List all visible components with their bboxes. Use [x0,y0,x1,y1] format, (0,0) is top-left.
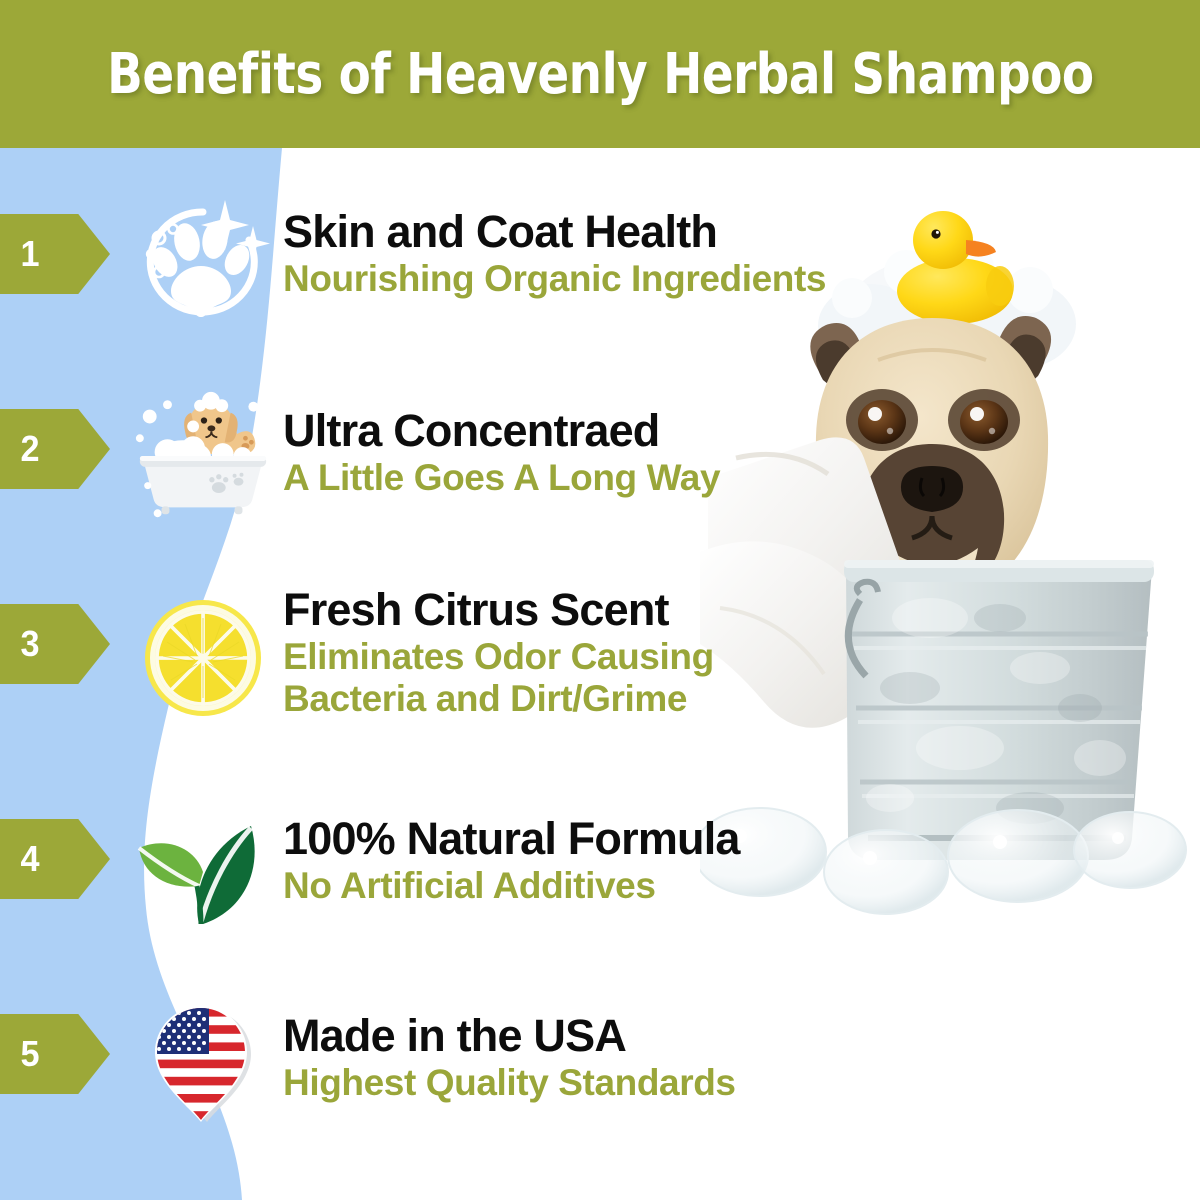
benefit-icon-3 [128,590,278,725]
benefit-row-3: 3 [0,576,1200,771]
number-badge-2: 2 [0,409,110,489]
benefit-row-2: 2 [0,381,1200,576]
benefit-subtitle-line1: No Artificial Additives [283,865,656,906]
benefit-title: 100% Natural Formula [283,813,983,865]
benefit-subtitle-line1: Eliminates Odor Causing [283,636,983,678]
lemon-slice-icon [141,598,265,718]
benefit-text-3: Fresh Citrus Scent Eliminates Odor Causi… [283,584,983,720]
benefit-subtitle: Eliminates Odor Causing Bacteria and Dir… [283,636,983,720]
benefit-subtitle: No Artificial Additives [283,865,983,907]
benefit-number: 2 [0,409,70,489]
benefit-number: 5 [0,1014,70,1094]
benefit-list: 1 [0,148,1200,1200]
benefit-subtitle-line1: A Little Goes A Long Way [283,457,720,498]
benefit-text-4: 100% Natural Formula No Artificial Addit… [283,813,983,907]
benefit-icon-4 [128,803,278,938]
benefit-row-4: 4 100% Natural Formula No Artificial Ad [0,791,1200,986]
number-badge-1: 1 [0,214,110,294]
page-title: Benefits of Heavenly Herbal Shampoo [107,42,1094,107]
number-badge-4: 4 [0,819,110,899]
benefit-subtitle: A Little Goes A Long Way [283,457,983,499]
benefit-row-5: 5 [0,986,1200,1181]
benefit-subtitle: Nourishing Organic Ingredients [283,258,983,300]
infographic-page: Benefits of Heavenly Herbal Shampoo [0,0,1200,1200]
benefit-title: Skin and Coat Health [283,206,983,258]
usa-flag-map-pin-icon [147,1000,259,1128]
header-band: Benefits of Heavenly Herbal Shampoo [0,0,1200,148]
benefit-text-2: Ultra Concentraed A Little Goes A Long W… [283,405,983,499]
green-leaves-icon [133,806,273,936]
number-badge-3: 3 [0,604,110,684]
benefit-subtitle-line1: Highest Quality Standards [283,1062,736,1103]
sparkle-paw-print-icon [129,196,277,328]
benefit-icon-5 [128,996,278,1131]
benefit-text-5: Made in the USA Highest Quality Standard… [283,1010,983,1104]
benefit-number: 1 [0,214,70,294]
number-badge-5: 5 [0,1014,110,1094]
dog-in-bathtub-icon [128,390,278,524]
benefit-title: Made in the USA [283,1010,983,1062]
benefit-text-1: Skin and Coat Health Nourishing Organic … [283,206,983,300]
benefit-icon-1 [128,194,278,329]
benefit-number: 4 [0,819,70,899]
benefit-icon-2 [128,389,278,524]
benefit-subtitle-line2: Bacteria and Dirt/Grime [283,678,983,720]
benefit-title: Fresh Citrus Scent [283,584,983,636]
benefit-row-1: 1 [0,186,1200,381]
benefit-number: 3 [0,604,70,684]
benefit-subtitle: Highest Quality Standards [283,1062,983,1104]
benefit-subtitle-line1: Nourishing Organic Ingredients [283,258,826,299]
benefit-title: Ultra Concentraed [283,405,983,457]
